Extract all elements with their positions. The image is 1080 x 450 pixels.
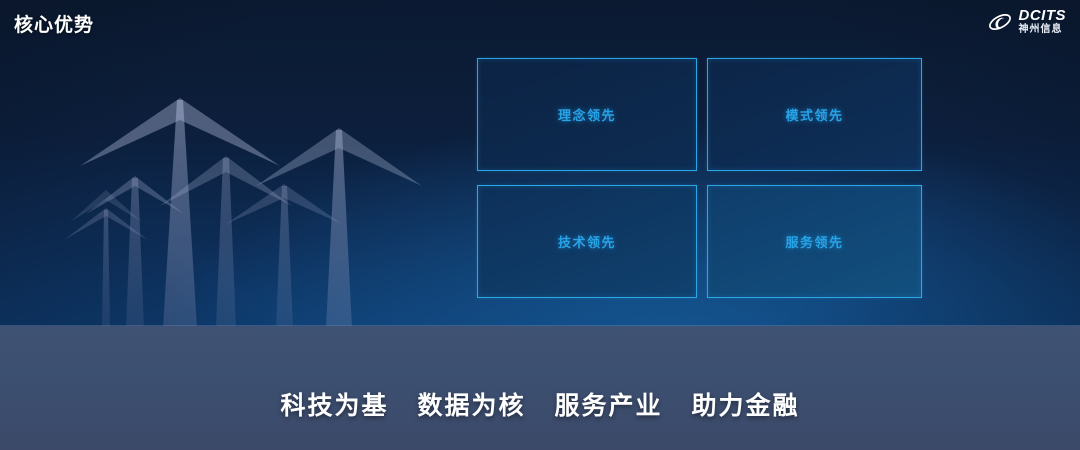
slogan-part-4: 助力金融	[691, 392, 799, 420]
advantage-card-grid: 理念领先 模式领先 技术领先 服务领先	[477, 58, 922, 298]
advantage-card-label: 理念领先	[558, 105, 616, 124]
slogan-part-2: 数据为核	[418, 392, 526, 420]
advantage-card-label: 技术领先	[558, 232, 616, 251]
slogan-part-3: 服务产业	[554, 392, 662, 420]
slogan-part-1: 科技为基	[281, 392, 389, 420]
advantage-card-concept[interactable]: 理念领先	[477, 58, 697, 171]
brand-name-cn: 神州信息	[1019, 25, 1063, 35]
slide-root: 核心优势 DCITS 神州信息 理念领先 模式领先 技术领先 服务领先 科技为基…	[0, 0, 1080, 450]
wind-turbine-silhouettes	[60, 80, 460, 328]
advantage-card-label: 模式领先	[785, 105, 843, 124]
slogan: 科技为基 数据为核 服务产业 助力金融	[0, 386, 1080, 422]
dcits-swoosh-icon	[987, 9, 1013, 35]
advantage-card-technology[interactable]: 技术领先	[477, 185, 697, 298]
advantage-card-model[interactable]: 模式领先	[707, 58, 922, 171]
brand-logo: DCITS 神州信息	[987, 8, 1067, 35]
advantage-card-label: 服务领先	[785, 232, 843, 251]
brand-logo-text: DCITS 神州信息	[1019, 8, 1067, 35]
page-title: 核心优势	[14, 10, 94, 37]
advantage-card-service[interactable]: 服务领先	[707, 185, 922, 298]
brand-name-en: DCITS	[1019, 8, 1067, 23]
